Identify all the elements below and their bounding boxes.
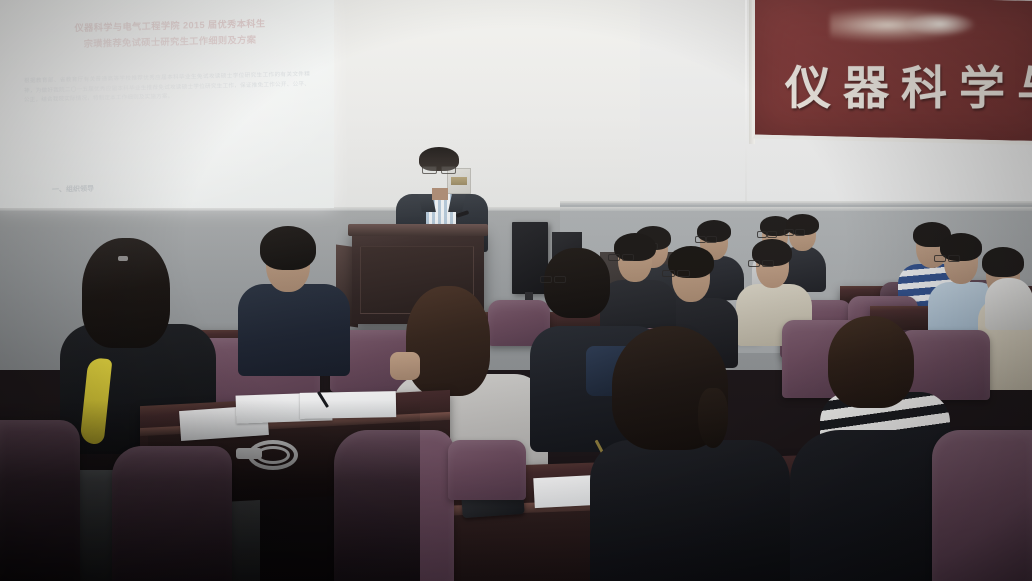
ponytail [698, 388, 728, 448]
torso [985, 278, 1032, 330]
chair-right-edge [932, 430, 1032, 581]
papers-on-desk-3 [300, 391, 396, 419]
glasses-icon [540, 276, 566, 281]
hair [828, 316, 914, 408]
hair [544, 248, 610, 318]
banner-text: 仪器科学与 [785, 62, 1032, 114]
chair-left-edge [0, 420, 80, 581]
hand [390, 352, 420, 380]
hair-clip [118, 256, 128, 261]
glasses-icon [784, 229, 805, 234]
chair-foreground-left [112, 446, 232, 581]
torso [238, 284, 350, 376]
presenter-glasses-icon [421, 166, 457, 172]
banner-glare-highlight [905, 12, 975, 36]
glasses-icon [695, 236, 717, 241]
glasses-icon [748, 260, 774, 265]
person-woman-white-top-right-edge [985, 246, 1032, 316]
torso [590, 440, 790, 581]
slide-section-heading: 一、组织领导 [52, 184, 94, 195]
person-woman-ponytail-front [590, 330, 780, 581]
glasses-icon [757, 231, 777, 236]
slide-body-text: 根据教育部、省教育厅有关普通高等学校推荐优秀应届本科毕业生免试攻读硕士学位研究生… [24, 70, 310, 106]
lecture-hall-photograph: 仪器科学与电气工程学院 2015 届优秀本科生 宗璜推荐免试硕士研究生工作细则及… [0, 0, 1032, 581]
wall-seam-right [745, 0, 747, 214]
hair [82, 238, 170, 348]
chair-foreground-center [334, 430, 454, 581]
wainscot-trim-right [560, 201, 1032, 205]
slide-title: 仪器科学与电气工程学院 2015 届优秀本科生 宗璜推荐免试硕士研究生工作细则及… [40, 15, 300, 53]
cable-plug [236, 448, 262, 459]
department-banner: 仪器科学与 [752, 0, 1032, 145]
hair [406, 286, 490, 396]
projected-slide: 仪器科学与电气工程学院 2015 届优秀本科生 宗璜推荐免试硕士研究生工作细则及… [0, 0, 334, 212]
chair-foreground-center-2 [448, 440, 526, 500]
podium-top [348, 224, 488, 236]
glasses-icon [934, 255, 960, 260]
hair [260, 226, 316, 270]
person-man-navy-shirt [238, 228, 348, 358]
projection-screen: 仪器科学与电气工程学院 2015 届优秀本科生 宗璜推荐免试硕士研究生工作细则及… [0, 0, 334, 208]
